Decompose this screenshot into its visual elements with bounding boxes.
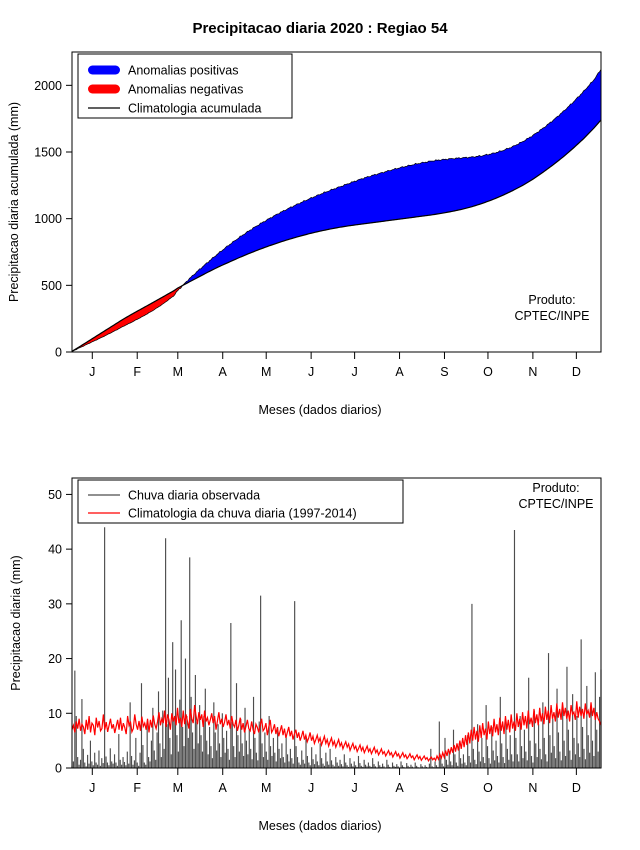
x-axis-label: Meses (dados diarios) [259,403,382,417]
y-axis-label: Precipitacao diaria acumulada (mm) [7,102,21,302]
y-axis-tick-label: 0 [55,346,62,360]
x-axis-tick-label: O [483,365,493,379]
accumulated-precipitation-chart-panel: Precipitacao diaria 2020 : Regiao 540500… [0,0,640,425]
x-axis-tick-label: D [572,781,581,795]
legend-label-2: Climatologia acumulada [128,102,261,116]
x-axis-tick-label: D [572,365,581,379]
x-axis-tick-label: F [133,781,141,795]
x-axis-tick-label: M [173,365,183,379]
y-axis-tick-label: 500 [41,279,62,293]
x-axis-tick-label: J [308,365,314,379]
producer-annotation-line2: CPTEC/INPE [518,497,593,511]
x-axis-tick-label: A [219,365,228,379]
legend-label-1: Anomalias negativas [128,83,243,97]
x-axis-tick-label: J [351,365,357,379]
legend-label-0: Anomalias positivas [128,64,238,78]
y-axis-tick-label: 30 [48,597,62,611]
x-axis-tick-label: A [395,365,404,379]
y-axis-tick-label: 2000 [34,79,62,93]
page-title: Precipitacao diaria 2020 : Regiao 54 [192,20,448,37]
x-axis-tick-label: M [261,781,271,795]
x-axis-tick-label: J [89,365,95,379]
x-axis-tick-label: N [528,781,537,795]
producer-annotation-line2: CPTEC/INPE [514,309,589,323]
daily-precipitation-chart-panel: 01020304050Precipitacao diaria (mm)JFMAM… [0,425,640,850]
legend-label-0: Chuva diaria observada [128,489,260,503]
x-axis-label: Meses (dados diarios) [259,819,382,833]
x-axis-tick-label: S [440,781,448,795]
x-axis-tick-label: A [395,781,404,795]
y-axis-tick-label: 1000 [34,212,62,226]
x-axis-tick-label: S [440,365,448,379]
legend-swatch-0 [88,66,120,75]
y-axis-tick-label: 20 [48,652,62,666]
y-axis-tick-label: 40 [48,543,62,557]
x-axis-tick-label: N [528,365,537,379]
accumulated-precipitation-chart: Precipitacao diaria 2020 : Regiao 540500… [0,0,640,425]
y-axis-tick-label: 10 [48,707,62,721]
x-axis-tick-label: M [173,781,183,795]
y-axis-tick-label: 1500 [34,146,62,160]
x-axis-tick-label: A [219,781,228,795]
x-axis-tick-label: M [261,365,271,379]
y-axis-label: Precipitacao diaria (mm) [9,555,23,690]
legend-label-1: Climatologia da chuva diaria (1997-2014) [128,507,357,521]
x-axis-tick-label: F [133,365,141,379]
x-axis-tick-label: J [89,781,95,795]
daily-precipitation-chart: 01020304050Precipitacao diaria (mm)JFMAM… [0,425,640,850]
y-axis-tick-label: 0 [55,762,62,776]
producer-annotation-line1: Produto: [532,481,579,495]
x-axis-tick-label: J [351,781,357,795]
observed-daily-bars [72,527,601,768]
y-axis-tick-label: 50 [48,488,62,502]
legend-swatch-1 [88,85,120,94]
x-axis-tick-label: O [483,781,493,795]
producer-annotation-line1: Produto: [528,293,575,307]
x-axis-tick-label: J [308,781,314,795]
